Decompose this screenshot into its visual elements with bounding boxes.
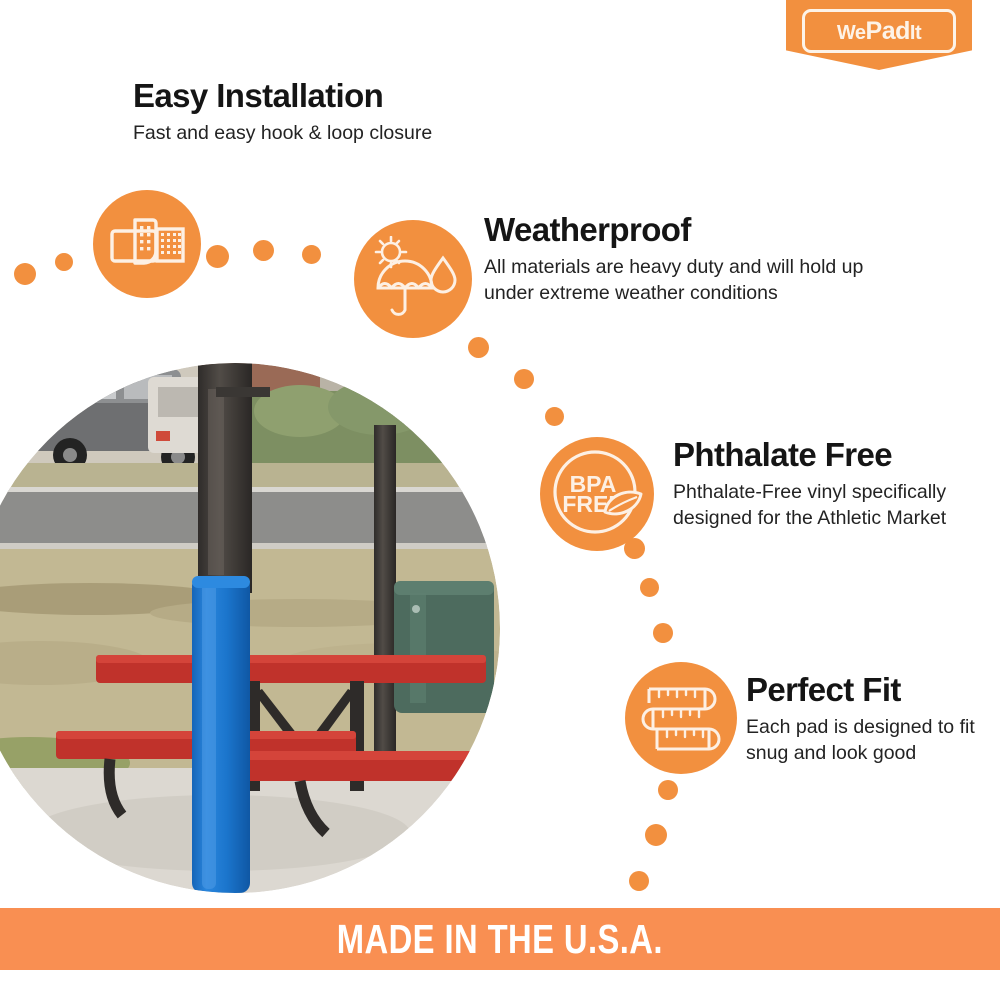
hook-and-loop-icon — [93, 190, 201, 298]
feature-title: Perfect Fit — [746, 672, 986, 709]
brand-logo: WePadIt — [786, 0, 972, 70]
logo-wordmark: WePadIt — [837, 17, 921, 46]
feature-title: Easy Installation — [133, 78, 603, 115]
trail-dot — [629, 871, 649, 891]
feature-description: Fast and easy hook & loop closure — [133, 121, 603, 147]
feature-description: Phthalate-Free vinyl specifically design… — [673, 480, 973, 532]
trail-dot — [640, 578, 659, 597]
feature-perfect-fit: Perfect Fit Each pad is designed to fit … — [746, 672, 986, 767]
feature-title: Weatherproof — [484, 212, 904, 249]
feature-description: All materials are heavy duty and will ho… — [484, 255, 904, 307]
trail-dot — [468, 337, 489, 358]
trail-dot — [514, 369, 534, 389]
bpa-free-leaf-icon: BPA FREE — [540, 437, 654, 551]
logo-outline-box: WePadIt — [802, 9, 956, 53]
trail-dot — [658, 780, 678, 800]
made-in-usa-banner: MADE IN THE U.S.A. — [0, 908, 1000, 970]
made-in-usa-text: MADE IN THE U.S.A. — [337, 916, 663, 963]
feature-title: Phthalate Free — [673, 437, 973, 474]
pole-pad-photo — [0, 363, 500, 893]
trail-dot — [253, 240, 274, 261]
measuring-tape-icon — [625, 662, 737, 774]
trail-dot — [302, 245, 321, 264]
trail-dot — [55, 253, 73, 271]
infographic-root: WePadIt — [0, 0, 1000, 987]
trail-dot — [545, 407, 564, 426]
feature-phthalate-free: Phthalate Free Phthalate-Free vinyl spec… — [673, 437, 973, 532]
feature-description: Each pad is designed to fit snug and loo… — [746, 715, 986, 767]
trail-dot — [645, 824, 667, 846]
sun-umbrella-raindrop-icon — [354, 220, 472, 338]
trail-dot — [206, 245, 229, 268]
feature-easy-installation: Easy Installation Fast and easy hook & l… — [133, 78, 603, 147]
trail-dot — [653, 623, 673, 643]
logo-text-we: We — [837, 22, 866, 44]
logo-text-pad: Pad — [866, 17, 910, 45]
trail-dot — [14, 263, 36, 285]
logo-text-it: It — [910, 22, 921, 44]
feature-weatherproof: Weatherproof All materials are heavy dut… — [484, 212, 904, 307]
